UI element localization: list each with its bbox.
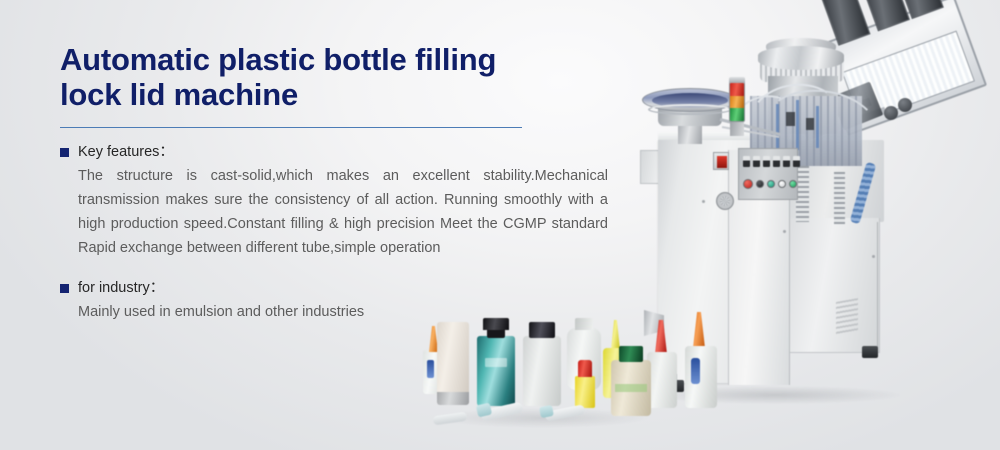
- yellow-red-vial: [575, 376, 595, 408]
- bowl-feeder-ring: [648, 104, 732, 115]
- screw-icon: [702, 200, 705, 203]
- push-button-row: [743, 179, 797, 189]
- selector-knob-icon[interactable]: [763, 156, 770, 167]
- signal-tower-base: [730, 120, 744, 136]
- signal-tower-cap: [729, 77, 745, 83]
- key-features-body: The structure is cast-solid,which makes …: [60, 164, 608, 260]
- white-dropper-label: [691, 358, 700, 384]
- key-features-heading-row: Key features：: [60, 144, 608, 161]
- for-industry-heading-row: for industry：: [60, 280, 608, 297]
- yellow-bottle-nozzle: [611, 320, 620, 350]
- green-bottle-cap: [619, 346, 643, 362]
- text-column: Automatic plastic bottle filling lock li…: [60, 42, 608, 324]
- selector-knob-icon[interactable]: [783, 156, 790, 167]
- signal-tower-light: [729, 82, 745, 122]
- selector-knob-row: [743, 156, 800, 167]
- cabinet-right-section: [788, 218, 880, 353]
- control-panel[interactable]: [738, 148, 798, 200]
- page-title-line-2: lock lid machine: [60, 77, 608, 112]
- vial-cap: [578, 360, 592, 377]
- roller-wheel: [898, 98, 912, 112]
- key-features-label: Key features：: [78, 144, 174, 161]
- selector-knob-icon[interactable]: [743, 156, 750, 167]
- selector-knob-icon[interactable]: [793, 156, 800, 167]
- turret-disc: [758, 46, 844, 70]
- white-dropper-bottle: [685, 346, 717, 408]
- emergency-stop-button[interactable]: [713, 152, 729, 170]
- push-button-black[interactable]: [756, 180, 764, 188]
- selector-knob-icon[interactable]: [753, 156, 760, 167]
- selector-knob-icon[interactable]: [773, 156, 780, 167]
- small-dropper-label: [427, 360, 434, 378]
- red-nozzle-bottle: [647, 352, 677, 408]
- push-button-red[interactable]: [743, 179, 753, 189]
- product-banner: Automatic plastic bottle filling lock li…: [0, 0, 1000, 450]
- cabinet-vent-louvers: [836, 298, 858, 336]
- tower-red-lamp: [730, 83, 744, 96]
- cabinet-side-flange: [640, 150, 660, 184]
- beige-tube-cap: [437, 392, 469, 405]
- roller-wheel: [884, 106, 898, 120]
- screw-icon: [783, 230, 786, 233]
- push-button-white[interactable]: [778, 180, 786, 188]
- bottle-group-photo: [425, 300, 660, 435]
- leveling-foot: [862, 346, 878, 358]
- spring-column: [834, 172, 845, 224]
- tower-amber-lamp: [730, 96, 744, 109]
- teal-bottle-label: [485, 358, 507, 367]
- cooling-fan-icon: [716, 192, 734, 210]
- push-button-green[interactable]: [789, 180, 797, 188]
- push-button-green[interactable]: [767, 180, 775, 188]
- bullet-square-icon: [60, 284, 69, 293]
- cabinet-door-seam: [877, 222, 878, 350]
- page-title: Automatic plastic bottle filling lock li…: [60, 42, 608, 112]
- frosted-white-bottle: [523, 336, 561, 406]
- bullet-square-icon: [60, 148, 69, 157]
- green-bottle-label: [615, 384, 647, 392]
- screw-icon: [872, 255, 875, 258]
- title-divider: [60, 127, 522, 128]
- tower-green-lamp: [730, 108, 744, 121]
- teal-bottle-cap: [483, 318, 509, 330]
- for-industry-label: for industry：: [78, 280, 164, 297]
- teal-flask-bottle: [477, 336, 515, 406]
- round-bottle-cap: [575, 318, 593, 330]
- page-title-line-1: Automatic plastic bottle filling: [60, 42, 608, 77]
- frosted-bottle-cap: [529, 322, 555, 338]
- section-key-features: Key features： The structure is cast-soli…: [60, 144, 608, 260]
